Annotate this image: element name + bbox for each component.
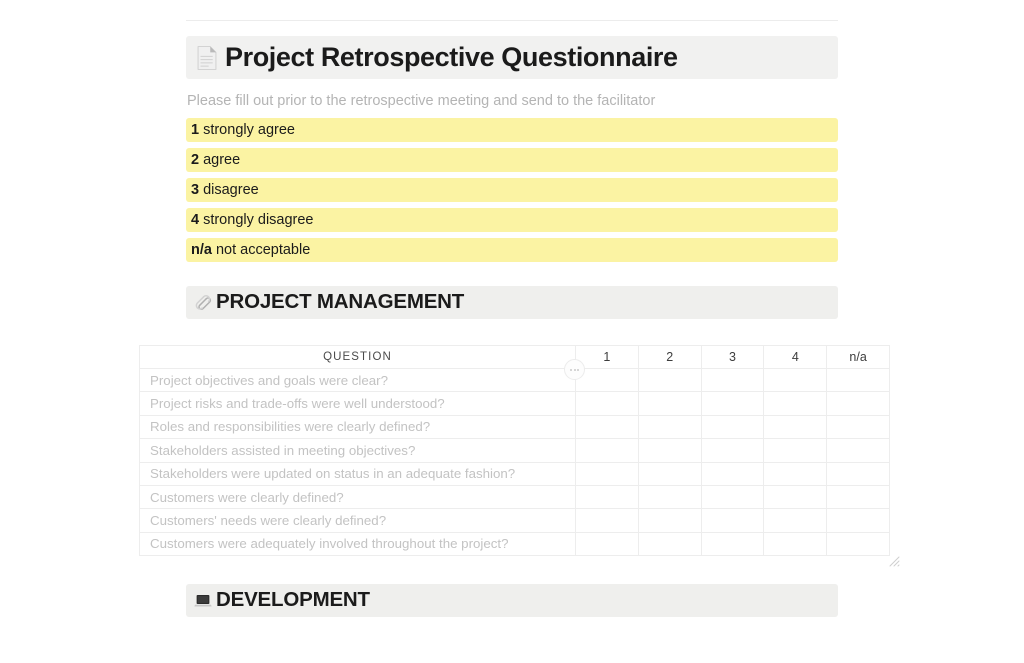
rating-cell-na[interactable] xyxy=(827,369,890,392)
question-cell[interactable]: Project objectives and goals were clear? xyxy=(140,369,576,392)
page-title-block[interactable]: Project Retrospective Questionnaire xyxy=(186,36,838,79)
column-header-rating-2[interactable]: 2 xyxy=(638,346,701,369)
rating-cell-na[interactable] xyxy=(827,439,890,462)
dot xyxy=(574,369,576,371)
laptop-computer-icon xyxy=(194,592,212,610)
rating-cell-3[interactable] xyxy=(701,392,764,415)
legend-label: strongly agree xyxy=(203,122,295,138)
legend-key: 2 xyxy=(191,152,199,168)
three-dots-handle-icon[interactable] xyxy=(564,359,585,380)
rating-cell-na[interactable] xyxy=(827,509,890,532)
rating-legend: 1 strongly agree 2 agree 3 disagree 4 st… xyxy=(186,118,838,262)
list-item[interactable]: 3 disagree xyxy=(186,178,838,202)
dot xyxy=(570,369,572,371)
table-row: Customers' needs were clearly defined? xyxy=(140,509,890,532)
question-cell[interactable]: Stakeholders assisted in meeting objecti… xyxy=(140,439,576,462)
section-heading-project-management[interactable]: PROJECT MANAGEMENT xyxy=(186,286,838,319)
rating-cell-4[interactable] xyxy=(764,439,827,462)
list-item[interactable]: n/a not acceptable xyxy=(186,238,838,262)
rating-cell-4[interactable] xyxy=(764,369,827,392)
column-header-rating-4[interactable]: 4 xyxy=(764,346,827,369)
rating-cell-2[interactable] xyxy=(638,462,701,485)
rating-cell-1[interactable] xyxy=(576,439,639,462)
table-header-row: QUESTION 1 2 3 4 n/a xyxy=(140,346,890,369)
legend-label: strongly disagree xyxy=(203,212,313,228)
dot xyxy=(577,369,579,371)
legend-label: agree xyxy=(203,152,240,168)
section-heading-development[interactable]: DEVELOPMENT xyxy=(186,584,838,617)
legend-key: n/a xyxy=(191,242,212,258)
rating-cell-2[interactable] xyxy=(638,532,701,555)
development-section-wrapper: DEVELOPMENT xyxy=(186,584,838,617)
question-cell[interactable]: Customers were adequately involved throu… xyxy=(140,532,576,555)
rating-cell-1[interactable] xyxy=(576,415,639,438)
rating-cell-3[interactable] xyxy=(701,462,764,485)
table-row: Customers were clearly defined? xyxy=(140,485,890,508)
questionnaire-table[interactable]: QUESTION 1 2 3 4 n/a Project objectives … xyxy=(139,345,890,556)
rating-cell-na[interactable] xyxy=(827,532,890,555)
top-divider xyxy=(186,20,838,21)
paperclip-icon xyxy=(194,294,212,312)
question-cell[interactable]: Project risks and trade-offs were well u… xyxy=(140,392,576,415)
column-header-rating-3[interactable]: 3 xyxy=(701,346,764,369)
rating-cell-2[interactable] xyxy=(638,415,701,438)
rating-cell-1[interactable] xyxy=(576,369,639,392)
section-title: PROJECT MANAGEMENT xyxy=(216,292,464,313)
list-item[interactable]: 4 strongly disagree xyxy=(186,208,838,232)
page-subtitle: Please fill out prior to the retrospecti… xyxy=(186,92,838,112)
legend-label: not acceptable xyxy=(216,242,310,258)
rating-cell-3[interactable] xyxy=(701,485,764,508)
rating-cell-1[interactable] xyxy=(576,392,639,415)
rating-cell-1[interactable] xyxy=(576,462,639,485)
table-row: Stakeholders were updated on status in a… xyxy=(140,462,890,485)
list-item[interactable]: 1 strongly agree xyxy=(186,118,838,142)
questionnaire-table-wrapper: QUESTION 1 2 3 4 n/a Project objectives … xyxy=(139,345,889,556)
rating-cell-4[interactable] xyxy=(764,462,827,485)
rating-cell-na[interactable] xyxy=(827,392,890,415)
section-title: DEVELOPMENT xyxy=(216,590,370,611)
rating-cell-2[interactable] xyxy=(638,509,701,532)
rating-cell-3[interactable] xyxy=(701,415,764,438)
column-header-rating-na[interactable]: n/a xyxy=(827,346,890,369)
rating-cell-4[interactable] xyxy=(764,485,827,508)
rating-cell-2[interactable] xyxy=(638,392,701,415)
rating-cell-4[interactable] xyxy=(764,415,827,438)
rating-cell-2[interactable] xyxy=(638,485,701,508)
table-row: Stakeholders assisted in meeting objecti… xyxy=(140,439,890,462)
column-header-question[interactable]: QUESTION xyxy=(140,346,576,369)
table-row: Project risks and trade-offs were well u… xyxy=(140,392,890,415)
table-row: Project objectives and goals were clear? xyxy=(140,369,890,392)
rating-cell-na[interactable] xyxy=(827,462,890,485)
page-title: Project Retrospective Questionnaire xyxy=(225,44,678,71)
rating-cell-4[interactable] xyxy=(764,392,827,415)
rating-cell-3[interactable] xyxy=(701,532,764,555)
rating-cell-3[interactable] xyxy=(701,509,764,532)
rating-cell-3[interactable] xyxy=(701,369,764,392)
rating-cell-na[interactable] xyxy=(827,485,890,508)
legend-key: 3 xyxy=(191,182,199,198)
list-item[interactable]: 2 agree xyxy=(186,148,838,172)
question-cell[interactable]: Stakeholders were updated on status in a… xyxy=(140,462,576,485)
question-cell[interactable]: Customers' needs were clearly defined? xyxy=(140,509,576,532)
resize-grip-icon[interactable] xyxy=(889,556,900,567)
page-facing-up-icon xyxy=(194,45,220,71)
rating-cell-3[interactable] xyxy=(701,439,764,462)
rating-cell-2[interactable] xyxy=(638,369,701,392)
document-body: Project Retrospective Questionnaire Plea… xyxy=(186,36,838,319)
rating-cell-4[interactable] xyxy=(764,532,827,555)
column-header-rating-1[interactable]: 1 xyxy=(576,346,639,369)
table-row: Roles and responsibilities were clearly … xyxy=(140,415,890,438)
rating-cell-1[interactable] xyxy=(576,485,639,508)
question-cell[interactable]: Roles and responsibilities were clearly … xyxy=(140,415,576,438)
legend-key: 4 xyxy=(191,212,199,228)
rating-cell-1[interactable] xyxy=(576,532,639,555)
table-row: Customers were adequately involved throu… xyxy=(140,532,890,555)
rating-cell-4[interactable] xyxy=(764,509,827,532)
rating-cell-1[interactable] xyxy=(576,509,639,532)
rating-cell-na[interactable] xyxy=(827,415,890,438)
rating-cell-2[interactable] xyxy=(638,439,701,462)
legend-label: disagree xyxy=(203,182,259,198)
legend-key: 1 xyxy=(191,122,199,138)
question-cell[interactable]: Customers were clearly defined? xyxy=(140,485,576,508)
